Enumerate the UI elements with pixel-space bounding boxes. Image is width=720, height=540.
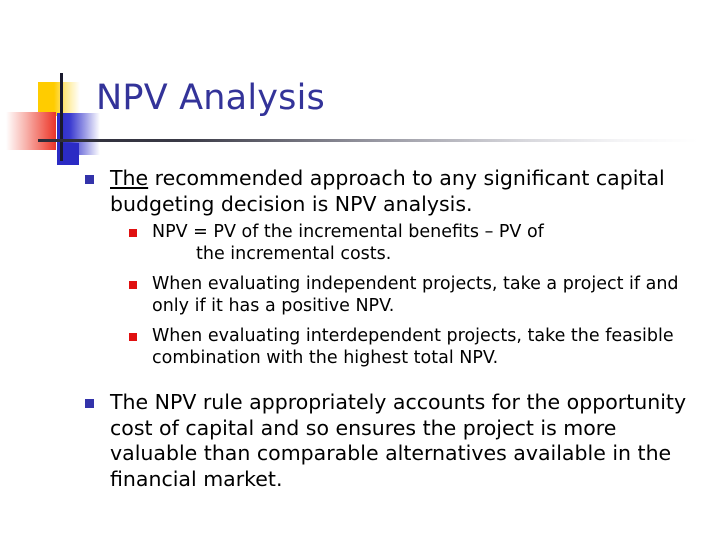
bullet-text-underlined: The	[110, 166, 148, 190]
bullet-text: When evaluating interdependent projects,…	[152, 326, 674, 368]
bullet-level2-item: When evaluating interdependent projects,…	[126, 325, 708, 369]
bullet-level1-item: The recommended approach to any signific…	[82, 166, 708, 217]
yellow-block-icon	[38, 82, 80, 116]
bullet-square-icon	[85, 399, 94, 408]
bullet-text: The NPV rule appropriately accounts for …	[110, 390, 686, 491]
bullet-text: recommended approach to any significant …	[110, 166, 665, 216]
bullet-level2-item: NPV = PV of the incremental benefits – P…	[126, 221, 708, 265]
bullet-text: NPV = PV of the incremental benefits – P…	[152, 222, 544, 242]
slide-body: The recommended approach to any signific…	[82, 166, 708, 494]
bullet-square-icon	[129, 281, 137, 289]
vertical-rule-icon	[60, 73, 63, 161]
bullet-text-continuation: the incremental costs.	[152, 243, 708, 265]
bullet-text: When evaluating independent projects, ta…	[152, 274, 679, 316]
bullet-square-icon	[129, 333, 137, 341]
bullet-square-icon	[129, 229, 137, 237]
slide-title: NPV Analysis	[96, 77, 325, 119]
bullet-level2-item: When evaluating independent projects, ta…	[126, 273, 708, 317]
red-block-icon	[6, 112, 56, 150]
presentation-slide: NPV Analysis The recommended approach to…	[0, 0, 720, 540]
bullet-square-icon	[85, 175, 94, 184]
sub-bullet-group: NPV = PV of the incremental benefits – P…	[82, 221, 708, 369]
paragraph-spacer	[82, 377, 708, 390]
horizontal-rule-icon	[38, 139, 698, 142]
bullet-level1-item: The NPV rule appropriately accounts for …	[82, 390, 708, 492]
